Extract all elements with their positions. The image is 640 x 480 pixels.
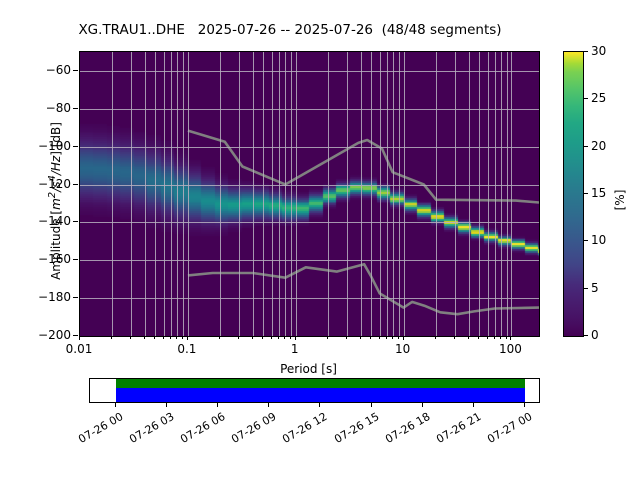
y-axis-tick	[73, 70, 78, 71]
timeline-tick	[524, 402, 525, 407]
gridline-vertical	[347, 52, 348, 336]
x-axis-tick-label: 1	[291, 342, 299, 356]
gridline-horizontal	[80, 147, 539, 148]
gridline-horizontal	[80, 298, 539, 299]
x-axis-tick-minor	[500, 336, 501, 339]
x-axis-tick-minor	[262, 336, 263, 339]
y-axis-tick-label: −180	[14, 290, 71, 304]
nhnm-noise-model-line	[188, 131, 539, 203]
gridline-vertical	[511, 52, 512, 336]
gridline-vertical	[399, 52, 400, 336]
colorbar-tick-label: 5	[591, 281, 599, 295]
y-axis-tick	[73, 108, 78, 109]
gridline-vertical	[253, 52, 254, 336]
gridline-vertical	[495, 52, 496, 336]
timeline-tick	[217, 402, 218, 407]
colorbar-tick	[583, 146, 588, 147]
gridline-vertical	[112, 52, 113, 336]
x-axis-tick-minor	[219, 336, 220, 339]
x-axis-tick-minor	[176, 336, 177, 339]
y-axis-tick-label: −80	[14, 101, 71, 115]
colorbar	[563, 51, 584, 337]
gridline-vertical	[507, 52, 508, 336]
y-axis-tick	[73, 146, 78, 147]
x-axis-tick-minor	[154, 336, 155, 339]
y-axis-tick-label: −200	[14, 328, 71, 342]
x-axis-tick-major	[403, 336, 404, 340]
x-axis-tick-minor	[182, 336, 183, 339]
x-axis-tick-minor	[454, 336, 455, 339]
y-axis-tick-label: −140	[14, 214, 71, 228]
colorbar-tick	[583, 288, 588, 289]
gridline-vertical	[291, 52, 292, 336]
colorbar-tick-label: 25	[591, 91, 606, 105]
ppsd-axes[interactable]	[79, 51, 540, 337]
gridline-vertical	[177, 52, 178, 336]
x-axis-tick-minor	[360, 336, 361, 339]
colorbar-label: [%]	[613, 140, 627, 260]
timeline-tick-label: 07-26 06	[172, 410, 227, 449]
gridline-vertical	[155, 52, 156, 336]
gridline-vertical	[380, 52, 381, 336]
gridline-vertical	[296, 52, 297, 336]
x-axis-tick-label: 0.1	[177, 342, 196, 356]
gridline-vertical	[272, 52, 273, 336]
psd-segments-band	[116, 379, 525, 388]
figure-title: XG.TRAU1..DHE 2025-07-26 -- 2025-07-26 (…	[0, 22, 580, 38]
x-axis-tick-minor	[327, 336, 328, 339]
x-axis-tick-label: 10	[395, 342, 410, 356]
x-axis-tick-minor	[290, 336, 291, 339]
timeline-tick-label: 07-27 00	[479, 410, 534, 449]
x-axis-tick-minor	[144, 336, 145, 339]
gridline-vertical	[171, 52, 172, 336]
x-axis-tick-minor	[170, 336, 171, 339]
x-axis-tick-minor	[487, 336, 488, 339]
x-axis-tick-label: 100	[499, 342, 522, 356]
gridline-vertical	[404, 52, 405, 336]
x-axis-tick-minor	[506, 336, 507, 339]
gridline-vertical	[285, 52, 286, 336]
gridline-horizontal	[80, 185, 539, 186]
timeline-tick-label: 07-26 09	[224, 410, 279, 449]
x-axis-tick-minor	[468, 336, 469, 339]
gridline-vertical	[145, 52, 146, 336]
x-axis-tick-major	[295, 336, 296, 340]
colorbar-tick-label: 20	[591, 139, 606, 153]
timeline-tick	[115, 402, 116, 407]
gridline-vertical	[479, 52, 480, 336]
gridline-vertical	[131, 52, 132, 336]
gridline-vertical	[501, 52, 502, 336]
y-axis-label: Amplitude [m2/s4/Hz] [dB]	[47, 51, 63, 351]
y-axis-tick-label: −120	[14, 177, 71, 191]
colorbar-tick	[583, 240, 588, 241]
y-axis-tick-label: −60	[14, 63, 71, 77]
x-axis-tick-minor	[435, 336, 436, 339]
x-axis-tick-minor	[392, 336, 393, 339]
gridline-vertical	[263, 52, 264, 336]
nlnm-noise-model-line	[188, 264, 539, 314]
gridline-vertical	[393, 52, 394, 336]
x-axis-label: Period [s]	[79, 362, 538, 376]
y-axis-tick	[73, 335, 78, 336]
gridline-vertical	[361, 52, 362, 336]
gridline-vertical	[164, 52, 165, 336]
x-axis-tick-minor	[346, 336, 347, 339]
figure-root: XG.TRAU1..DHE 2025-07-26 -- 2025-07-26 (…	[0, 0, 640, 480]
y-axis-tick	[73, 259, 78, 260]
noise-model-lines	[80, 52, 539, 336]
gridline-vertical	[183, 52, 184, 336]
x-axis-tick-minor	[238, 336, 239, 339]
x-axis-tick-major	[510, 336, 511, 340]
x-axis-tick-minor	[478, 336, 479, 339]
y-axis-tick	[73, 184, 78, 185]
y-axis-tick-label: −100	[14, 139, 71, 153]
timeline-tick	[473, 402, 474, 407]
x-axis-tick-minor	[370, 336, 371, 339]
gridline-horizontal	[80, 109, 539, 110]
gridline-vertical	[469, 52, 470, 336]
timeline-tick-label: 07-26 12	[275, 410, 330, 449]
timeline-tick	[166, 402, 167, 407]
colorbar-tick-label: 10	[591, 233, 606, 247]
x-axis-tick-minor	[271, 336, 272, 339]
y-axis-tick-label: −160	[14, 252, 71, 266]
timeline-tick-label: 07-26 00	[70, 410, 125, 449]
gridline-horizontal	[80, 222, 539, 223]
colorbar-tick	[583, 335, 588, 336]
gridline-vertical	[188, 52, 189, 336]
x-axis-tick-minor	[398, 336, 399, 339]
timeline-tick-label: 07-26 03	[121, 410, 176, 449]
x-axis-tick-major	[79, 336, 80, 340]
timeline-tick-label: 07-26 21	[428, 410, 483, 449]
timeline-tick	[268, 402, 269, 407]
x-axis-tick-minor	[284, 336, 285, 339]
gridline-horizontal	[80, 260, 539, 261]
gridline-vertical	[371, 52, 372, 336]
x-axis-tick-minor	[379, 336, 380, 339]
gridline-horizontal	[80, 71, 539, 72]
y-axis-tick	[73, 297, 78, 298]
timeline-tick	[319, 402, 320, 407]
gridline-vertical	[488, 52, 489, 336]
colorbar-tick-label: 15	[591, 186, 606, 200]
gridline-vertical	[328, 52, 329, 336]
colorbar-tick	[583, 51, 588, 52]
gridline-vertical	[279, 52, 280, 336]
x-axis-tick-minor	[386, 336, 387, 339]
x-axis-tick-minor	[163, 336, 164, 339]
gridline-vertical	[436, 52, 437, 336]
timeline-tick	[422, 402, 423, 407]
gridline-vertical	[239, 52, 240, 336]
gridline-vertical	[220, 52, 221, 336]
x-axis-tick-minor	[494, 336, 495, 339]
y-axis-tick	[73, 221, 78, 222]
colorbar-tick-label: 30	[591, 44, 606, 58]
x-axis-tick-minor	[111, 336, 112, 339]
gridline-vertical	[455, 52, 456, 336]
data-availability-band	[116, 388, 525, 402]
x-axis-tick-label: 0.01	[66, 342, 93, 356]
timeline-tick	[371, 402, 372, 407]
colorbar-tick	[583, 98, 588, 99]
x-axis-tick-minor	[252, 336, 253, 339]
x-axis-tick-minor	[130, 336, 131, 339]
x-axis-tick-major	[187, 336, 188, 340]
timeline-axes[interactable]	[89, 378, 540, 403]
timeline-tick-label: 07-26 18	[377, 410, 432, 449]
colorbar-tick	[583, 193, 588, 194]
gridline-vertical	[387, 52, 388, 336]
colorbar-tick-label: 0	[591, 328, 599, 342]
x-axis-tick-minor	[278, 336, 279, 339]
timeline-tick-label: 07-26 15	[326, 410, 381, 449]
